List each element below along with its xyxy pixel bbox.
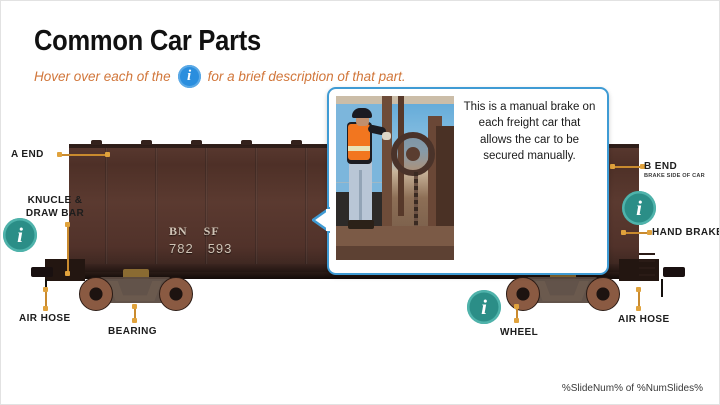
tooltip-callout: This is a manual brake on each freight c…: [327, 87, 609, 275]
leader-dot: [636, 306, 641, 311]
leader-dot: [65, 271, 70, 276]
leader-dot: [610, 164, 615, 169]
car-rib: [105, 148, 108, 268]
leader-dot: [105, 152, 110, 157]
callout-description: This is a manual brake on each freight c…: [463, 99, 596, 164]
page-title: Common Car Parts: [34, 25, 261, 58]
label-b-end: B END BRAKE SIDE OF CAR: [644, 161, 705, 179]
subtitle-text-after: for a brief description of that part.: [208, 69, 406, 84]
end-ladder: [639, 251, 655, 281]
label-air-hose-right: AIR HOSE: [618, 314, 670, 325]
wheel: [506, 277, 540, 311]
leader-dot: [636, 287, 641, 292]
slide-number-footer: %SlideNum% of %NumSlides%: [562, 383, 703, 394]
car-rib: [255, 148, 258, 268]
wheel: [159, 277, 193, 311]
label-air-hose-left: AIR HOSE: [19, 313, 71, 324]
wheel: [79, 277, 113, 311]
roof-nub: [241, 140, 252, 145]
info-icon: i: [178, 65, 201, 88]
knuckle-coupler: [663, 267, 685, 277]
subtitle-row: Hover over each of the i for a brief des…: [34, 63, 406, 89]
air-hose-right: [661, 279, 663, 297]
leader-dot: [132, 318, 137, 323]
leader-dot: [132, 304, 137, 309]
label-wheel: WHEEL: [500, 327, 538, 338]
leader-dot: [621, 230, 626, 235]
label-b-end-sub: BRAKE SIDE OF CAR: [644, 173, 705, 179]
leader-line-a-end: [59, 154, 109, 156]
leader-line-b-end: [613, 166, 643, 168]
car-rib: [305, 148, 308, 268]
leader-dot: [514, 318, 519, 323]
label-b-end-main: B END: [644, 161, 677, 172]
roof-nub: [291, 140, 302, 145]
roof-nub: [191, 140, 202, 145]
info-icon-hand-brake[interactable]: i: [622, 191, 656, 225]
leader-dot: [57, 152, 62, 157]
leader-line-knuckle: [67, 225, 69, 273]
leader-dot: [43, 287, 48, 292]
label-knuckle-draw-bar: KNUCLE & DRAW BAR: [25, 195, 85, 220]
leader-dot: [514, 304, 519, 309]
info-icon-knuckle-draw-bar[interactable]: i: [3, 218, 37, 252]
knuckle-coupler: [31, 267, 53, 277]
label-a-end: A END: [11, 149, 44, 160]
label-hand-brake: HAND BRAKE: [652, 227, 720, 238]
leader-dot: [65, 222, 70, 227]
label-bearing: BEARING: [108, 326, 157, 337]
callout-tail: [312, 207, 330, 233]
callout-text-area: This is a manual brake on each freight c…: [454, 96, 600, 266]
truck-assembly-b-end: [506, 275, 618, 313]
roof-nub: [141, 140, 152, 145]
car-reporting-marks: BNSF: [169, 224, 220, 239]
subtitle-text-before: Hover over each of the: [34, 69, 171, 84]
roof-nub: [91, 140, 102, 145]
callout-photo: [336, 96, 454, 260]
car-number: 782593: [169, 241, 232, 256]
info-icon-wheel[interactable]: i: [467, 290, 501, 324]
leader-dot: [43, 306, 48, 311]
car-rib: [155, 148, 158, 268]
wheel: [586, 277, 620, 311]
slide-canvas: Common Car Parts Hover over each of the …: [0, 0, 720, 405]
